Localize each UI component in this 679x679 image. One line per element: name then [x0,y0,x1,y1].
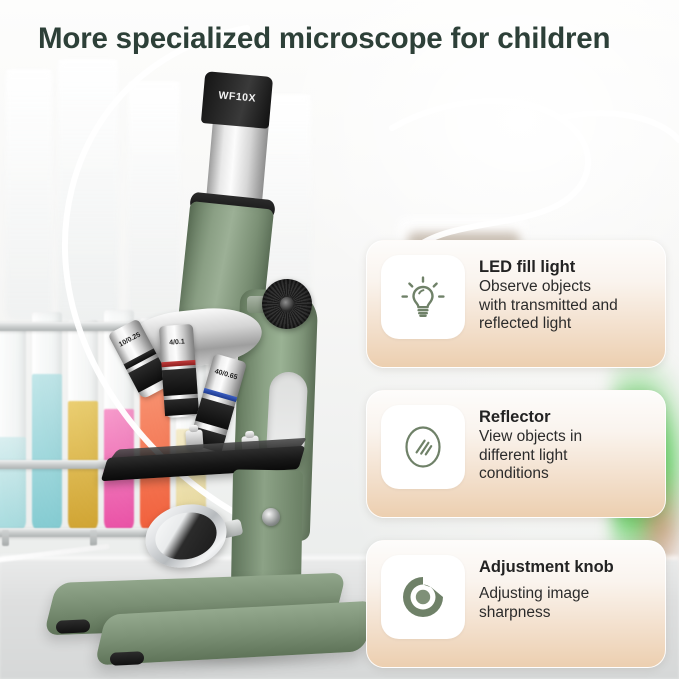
mirror-reflector-icon [397,421,449,473]
card-text: LED fill light Observe objects with tran… [465,255,618,334]
eyepiece-label: WF10X [203,88,272,106]
objective-mark: 40/0.65 [209,367,244,383]
product-marketing-image: WF10X 10/0.25 4/0.1 40/0.65 [0,0,679,679]
light-bulb-icon [397,271,449,323]
focus-knob [262,279,312,329]
objective-mark: 10/0.25 [113,329,146,351]
base-foot [110,651,145,666]
card-title: Reflector [479,407,582,428]
card-title: LED fill light [479,257,618,278]
objective-mark: 4/0.1 [160,338,194,347]
card-description: Adjusting image sharpness [479,585,614,623]
base-foot [56,619,91,634]
page-title: More specialized microscope for children [38,22,610,56]
feature-card-adjustment-knob: Adjustment knob Adjusting image sharpnes… [366,540,666,668]
card-description: Observe objects with transmitted and ref… [479,278,618,335]
objective-lens: 4/0.1 [159,324,199,418]
icon-container [381,255,465,339]
objective-band [195,397,234,429]
card-text: Reflector View objects in different ligh… [465,405,582,484]
adjustment-knob-icon [397,571,449,623]
icon-container [381,405,465,489]
reflector-mirror-face [150,506,221,566]
card-text: Adjustment knob Adjusting image sharpnes… [465,555,614,622]
feature-card-list: LED fill light Observe objects with tran… [366,240,666,668]
pillar-screw [262,508,280,526]
feature-card-led-fill-light: LED fill light Observe objects with tran… [366,240,666,368]
objective-band [162,368,198,396]
reflector-mirror [139,496,234,576]
objective-color-ring [161,360,195,367]
clip-screw [189,425,198,433]
eyepiece-cap: WF10X [201,71,273,129]
card-title: Adjustment knob [479,557,614,578]
card-description: View objects in different light conditio… [479,428,582,485]
icon-container [381,555,465,639]
clip-screw [245,431,254,439]
objective-band [164,398,199,416]
feature-card-reflector: Reflector View objects in different ligh… [366,390,666,518]
